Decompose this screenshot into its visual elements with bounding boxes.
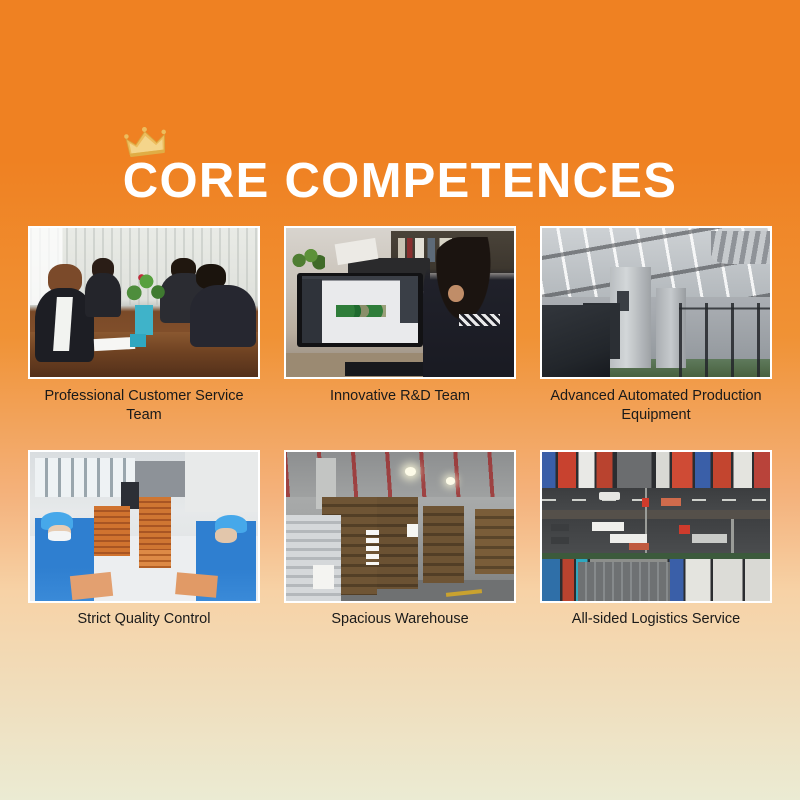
competence-grid-row-1: Professional Customer Service Team Innov…	[28, 226, 772, 424]
competence-card-quality-control[interactable]: Strict Quality Control	[28, 450, 260, 629]
page-title: CORE COMPETENCES	[123, 157, 677, 206]
photo-customer-service-team[interactable]	[28, 226, 260, 379]
competence-card-customer-service-team[interactable]: Professional Customer Service Team	[28, 226, 260, 424]
photo-rd-team[interactable]	[284, 226, 516, 379]
page-header: CORE COMPETENCES	[0, 0, 800, 226]
competence-caption: Spacious Warehouse	[331, 610, 468, 629]
competence-caption: Innovative R&D Team	[330, 387, 470, 406]
photo-warehouse[interactable]	[284, 450, 516, 603]
competence-caption: All-sided Logistics Service	[572, 610, 740, 629]
crown-icon	[123, 124, 169, 161]
competence-grid-row-2: Strict Quality Control Spacious Warehous…	[28, 450, 772, 629]
title-block: CORE COMPETENCES	[123, 157, 677, 206]
competence-card-production-equipment[interactable]: Advanced Automated Production Equipment	[540, 226, 772, 424]
photo-logistics-service[interactable]	[540, 450, 772, 603]
competence-card-rd-team[interactable]: Innovative R&D Team	[284, 226, 516, 424]
competence-caption: Advanced Automated Production Equipment	[540, 387, 772, 424]
competence-caption: Professional Customer Service Team	[28, 387, 260, 424]
competence-card-logistics-service[interactable]: All-sided Logistics Service	[540, 450, 772, 629]
photo-production-equipment[interactable]	[540, 226, 772, 379]
competence-caption: Strict Quality Control	[78, 610, 211, 629]
competence-card-warehouse[interactable]: Spacious Warehouse	[284, 450, 516, 629]
photo-quality-control[interactable]	[28, 450, 260, 603]
